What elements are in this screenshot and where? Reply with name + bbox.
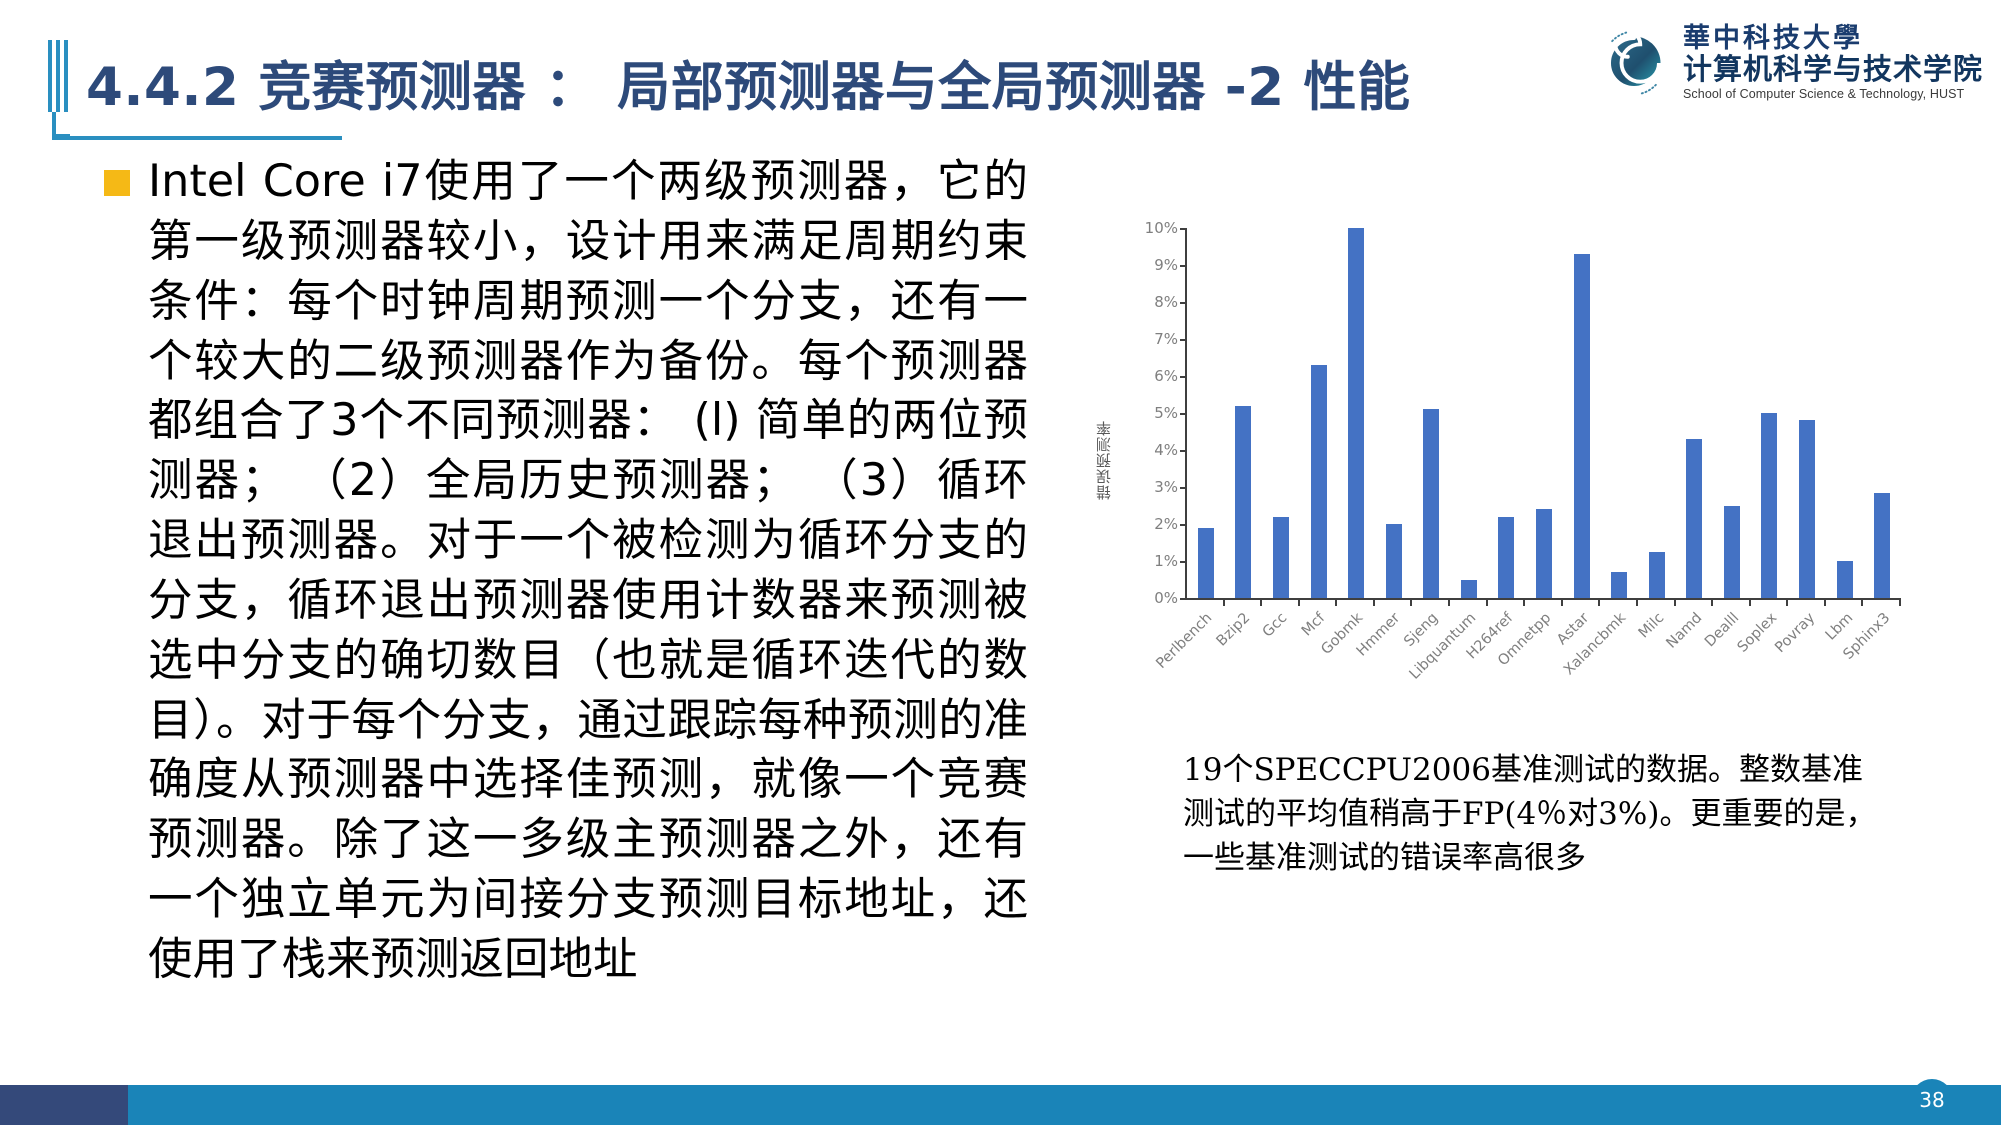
footer-accent-block xyxy=(0,1085,128,1125)
chart-bar-cell xyxy=(1488,228,1526,598)
bullet-item: Intel Core i7使用了一个两级预测器，它的第一级预测器较小，设计用来满… xyxy=(104,152,1034,990)
chart-bar-cell xyxy=(1751,228,1789,598)
chart-bar xyxy=(1498,517,1514,598)
chart-caption: 19个SPECCPU2006基准测试的数据。整数基准测试的平均值稍高于FP(4％… xyxy=(1183,748,1883,880)
chart-bar-cell xyxy=(1826,228,1864,598)
chart-bar-cell xyxy=(1262,228,1300,598)
chart-bar-cell xyxy=(1375,228,1413,598)
chart-x-tick-label: Lbm xyxy=(1822,610,1856,644)
chart-bars xyxy=(1187,228,1901,598)
chart-y-tick-mark xyxy=(1180,228,1187,230)
chart-bar xyxy=(1649,552,1665,598)
chart-bar xyxy=(1273,517,1289,598)
page-number-badge: 38 xyxy=(1911,1079,1953,1121)
chart-x-axis-labels: PerlbenchBzip2GccMcfGobmkHmmerSjengLibqu… xyxy=(1185,604,1901,714)
chart-x-label-cell: Soplex xyxy=(1750,604,1788,714)
chart-y-tick-mark xyxy=(1180,450,1187,452)
chart-bar xyxy=(1198,528,1214,598)
chart-bar-cell xyxy=(1600,228,1638,598)
slide-header: 4.4.2 竞赛预测器 ： 局部预测器与全局预测器 -2 性能 xyxy=(0,18,1480,128)
page-title: 4.4.2 竞赛预测器 ： 局部预测器与全局预测器 -2 性能 xyxy=(86,45,1411,121)
bullet-paragraph: Intel Core i7使用了一个两级预测器，它的第一级预测器较小，设计用来满… xyxy=(148,152,1028,990)
chart-y-tick-mark xyxy=(1180,524,1187,526)
chart-x-label-cell: Perlbench xyxy=(1185,604,1223,714)
title-rule-decoration xyxy=(48,40,70,112)
chart-bar-cell xyxy=(1713,228,1751,598)
square-bullet-icon xyxy=(104,170,130,196)
chart-bar xyxy=(1724,506,1740,599)
chart-bar-cell xyxy=(1300,228,1338,598)
chart-y-axis-label: 错误预测率 xyxy=(1093,420,1114,500)
chart-x-label-cell: Hmmer xyxy=(1373,604,1411,714)
chart-bar xyxy=(1536,509,1552,598)
logo-school-name: 计算机科学与技术学院 xyxy=(1683,53,1983,85)
slide: 4.4.2 竞赛预测器 ： 局部预测器与全局预测器 -2 性能 華中科技大學 xyxy=(0,0,2001,1125)
chart-bar xyxy=(1874,493,1890,598)
chart-x-label-cell: Omnetpp xyxy=(1524,604,1562,714)
chart-x-label-cell: Sphinx3 xyxy=(1863,604,1901,714)
chart-bar-cell xyxy=(1412,228,1450,598)
chart-x-label-cell: Namd xyxy=(1675,604,1713,714)
chart-bar xyxy=(1611,572,1627,598)
chart-x-tick-label: Mcf xyxy=(1299,610,1328,639)
chart-x-label-cell: Gobmk xyxy=(1336,604,1374,714)
chart-x-tick-label: Perlbench xyxy=(1153,610,1215,672)
body-content: Intel Core i7使用了一个两级预测器，它的第一级预测器较小，设计用来满… xyxy=(104,152,1034,990)
chart-y-tick-mark xyxy=(1180,598,1187,600)
chart-x-label-cell: Milc xyxy=(1637,604,1675,714)
chart-bar xyxy=(1799,420,1815,598)
chart-x-label-cell: Mcf xyxy=(1298,604,1336,714)
chart-bar xyxy=(1348,228,1364,598)
chart-y-tick-mark xyxy=(1180,376,1187,378)
chart-x-label-cell: Libquantum xyxy=(1449,604,1487,714)
logo-university-name: 華中科技大學 xyxy=(1683,24,1983,54)
title-underline-stub xyxy=(52,112,70,138)
chart-bar-cell xyxy=(1525,228,1563,598)
chart-x-label-cell: Gcc xyxy=(1260,604,1298,714)
chart-bar-cell xyxy=(1450,228,1488,598)
chart-y-tick-mark xyxy=(1180,339,1187,341)
hust-logo: 華中科技大學 计算机科学与技术学院 School of Computer Sci… xyxy=(1595,20,1983,106)
chart-bar-cell xyxy=(1788,228,1826,598)
chart-x-label-cell: Xalancbmk xyxy=(1600,604,1638,714)
title-underline xyxy=(52,136,342,140)
chart-bar-cell xyxy=(1563,228,1601,598)
chart-bar xyxy=(1761,413,1777,598)
chart-bar-cell xyxy=(1187,228,1225,598)
chart-bar xyxy=(1461,580,1477,599)
chart-x-tick-label: Milc xyxy=(1636,610,1667,641)
hust-swirl-logo-icon xyxy=(1595,24,1673,102)
chart-x-label-cell: Dealll xyxy=(1713,604,1751,714)
logo-text-block: 華中科技大學 计算机科学与技术学院 School of Computer Sci… xyxy=(1683,24,1983,102)
chart-plot-area: 10%9%8%7%6%5%4%3%2%1%0% xyxy=(1185,228,1901,600)
chart-bar-cell xyxy=(1225,228,1263,598)
chart-bar-cell xyxy=(1863,228,1901,598)
chart-y-tick-mark xyxy=(1180,302,1187,304)
chart-bar xyxy=(1311,365,1327,598)
chart-bar xyxy=(1423,409,1439,598)
chart-bar-cell xyxy=(1638,228,1676,598)
logo-english-name: School of Computer Science & Technology,… xyxy=(1683,86,1983,102)
chart-x-label-cell: Povray xyxy=(1788,604,1826,714)
chart-bar xyxy=(1837,561,1853,598)
chart-y-tick-mark xyxy=(1180,413,1187,415)
chart-bar-cell xyxy=(1676,228,1714,598)
chart-bar-cell xyxy=(1337,228,1375,598)
chart-bar xyxy=(1235,406,1251,598)
chart-bar xyxy=(1686,439,1702,598)
chart-x-label-cell: Lbm xyxy=(1826,604,1864,714)
chart-y-tick-mark xyxy=(1180,561,1187,563)
chart-y-tick-mark xyxy=(1180,487,1187,489)
misprediction-rate-chart: 错误预测率 10%9%8%7%6%5%4%3%2%1%0% PerlbenchB… xyxy=(1093,190,1923,720)
chart-x-tick-label: Gcc xyxy=(1260,610,1291,641)
chart-bar xyxy=(1574,254,1590,598)
chart-bar xyxy=(1386,524,1402,598)
footer-bar xyxy=(0,1085,2001,1125)
chart-x-label-cell: Bzip2 xyxy=(1223,604,1261,714)
chart-y-tick-mark xyxy=(1180,265,1187,267)
